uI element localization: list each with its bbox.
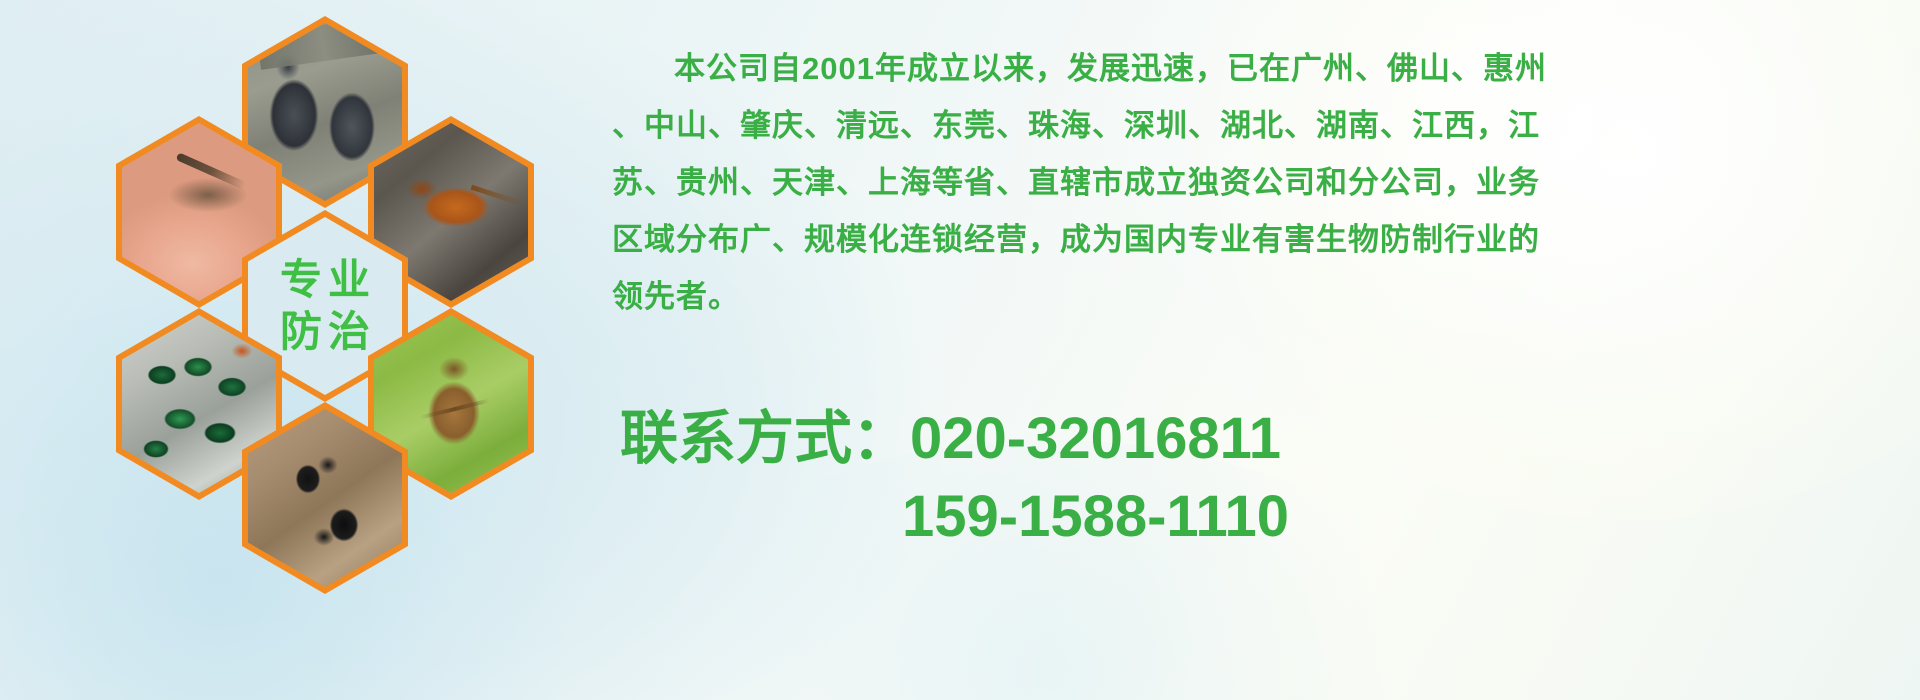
ants-image <box>248 409 402 587</box>
contact-landline-line: 联系方式：020-32016811 <box>620 400 1920 478</box>
logo-text-line-1: 专业 <box>274 257 376 303</box>
contact-block: 联系方式：020-32016811 159-1588-1110 <box>620 400 1920 556</box>
hexagon-logo-cluster: 专业 防治 <box>80 10 600 570</box>
company-intro-paragraph: 本公司自2001年成立以来，发展迅速，已在广州、佛山、惠州 、中山、肇庆、清远、… <box>612 40 1912 325</box>
promo-banner: 专业 防治 本公司自2001年成立以来，发展迅速，已在广州、佛山、惠州 、中山、… <box>0 0 1920 700</box>
intro-line: 区域分布广、规模化连锁经营，成为国内专业有害生物防制行业的 <box>612 211 1912 268</box>
contact-mobile-line: 159-1588-1110 <box>620 478 1920 556</box>
intro-line: 领先者。 <box>612 268 1912 325</box>
intro-line: 、中山、肇庆、清远、东莞、珠海、深圳、湖北、湖南、江西，江 <box>612 97 1912 154</box>
contact-phone-landline[interactable]: 020-32016811 <box>910 406 1281 471</box>
intro-line: 本公司自2001年成立以来，发展迅速，已在广州、佛山、惠州 <box>612 40 1912 97</box>
intro-line: 苏、贵州、天津、上海等省、直辖市成立独资公司和分公司，业务 <box>612 154 1912 211</box>
contact-label: 联系方式： <box>620 406 910 471</box>
contact-phone-mobile[interactable]: 159-1588-1110 <box>902 484 1289 549</box>
logo-text-line-2: 防治 <box>274 309 376 355</box>
